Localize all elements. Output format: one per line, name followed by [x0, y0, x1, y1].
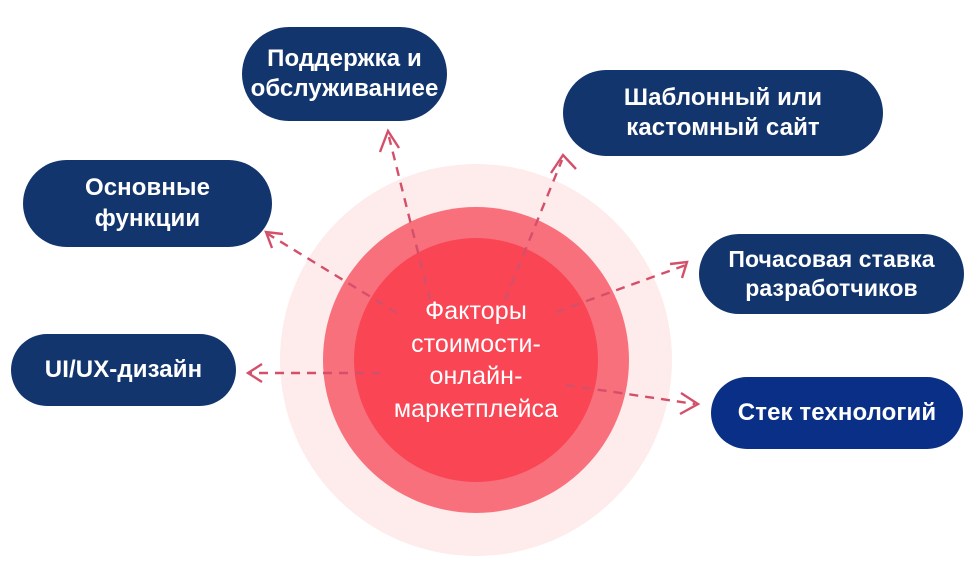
hub-center-label: Факторы стоимости- онлайн- маркетплейса — [354, 238, 598, 482]
node-template-or-custom-site[interactable]: Шаблонный или кастомный сайт — [563, 70, 883, 156]
arrowhead-template — [551, 155, 576, 173]
diagram-canvas: Факторы стоимости- онлайн- маркетплейса … — [0, 0, 976, 578]
node-ui-ux-design[interactable]: UI/UX-дизайн — [11, 334, 236, 406]
node-support[interactable]: Поддержка и обслуживаниее — [242, 27, 447, 121]
node-core-functions[interactable]: Основные функции — [23, 160, 272, 247]
node-developer-hourly-rate[interactable]: Почасовая ставка разработчиков — [699, 234, 964, 314]
arrowhead-rate — [670, 262, 687, 278]
node-tech-stack[interactable]: Стек технологий — [711, 377, 963, 449]
arrowhead-support — [380, 131, 399, 152]
arrowhead-core — [266, 232, 283, 248]
arrowhead-stack — [680, 393, 698, 414]
arrowhead-uiux — [248, 364, 262, 382]
